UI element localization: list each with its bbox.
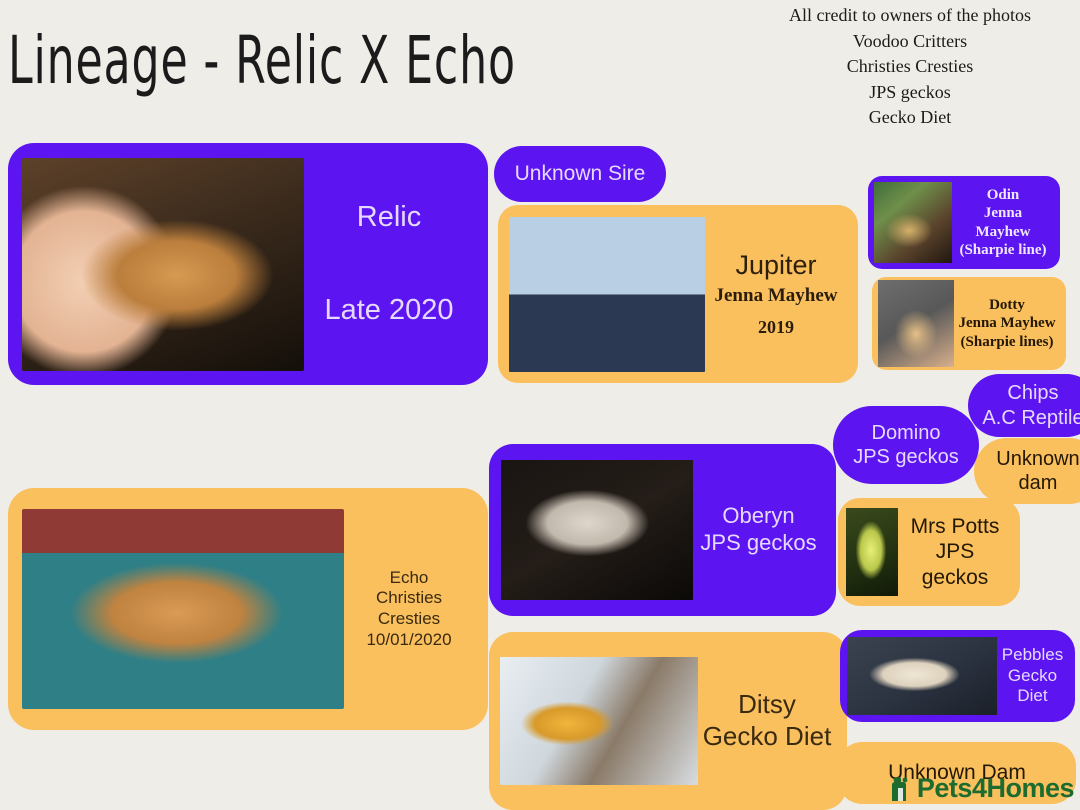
pebbles-photo xyxy=(847,637,997,715)
pets4homes-watermark: Pets4Homes xyxy=(888,773,1074,804)
pebbles-labels: Pebbles Gecko Diet xyxy=(997,645,1068,707)
card-relic[interactable]: Relic Late 2020 xyxy=(8,143,488,385)
jupiter-labels: Jupiter Jenna Mayhew 2019 xyxy=(705,249,847,339)
domino-name: Domino xyxy=(837,421,975,445)
unknown-sire-name: Unknown Sire xyxy=(494,161,666,187)
ditsy-labels: Ditsy Gecko Diet xyxy=(698,689,836,752)
credit-line: Gecko Diet xyxy=(750,105,1070,131)
card-pebbles[interactable]: Pebbles Gecko Diet xyxy=(840,630,1075,722)
relic-name: Relic xyxy=(308,200,470,235)
pebbles-name: Pebbles xyxy=(1001,645,1064,666)
card-jupiter[interactable]: Jupiter Jenna Mayhew 2019 xyxy=(498,205,858,383)
mrs-potts-owner: JPS geckos xyxy=(902,539,1008,590)
ditsy-owner: Gecko Diet xyxy=(702,721,832,753)
card-dotty[interactable]: Dotty Jenna Mayhew (Sharpie lines) xyxy=(872,277,1066,370)
card-oberyn[interactable]: Oberyn JPS geckos xyxy=(489,444,836,616)
card-unknown-dam-top[interactable]: Unknown dam xyxy=(974,438,1080,504)
jupiter-owner: Jenna Mayhew xyxy=(709,284,843,307)
odin-note: (Sharpie line) xyxy=(956,241,1050,259)
relic-labels: Relic Late 2020 xyxy=(304,200,474,329)
relic-photo xyxy=(22,158,304,371)
card-unknown-sire[interactable]: Unknown Sire xyxy=(494,146,666,202)
chips-labels: Chips A.C Reptile xyxy=(968,381,1080,430)
odin-photo xyxy=(874,182,952,263)
echo-name: Echo xyxy=(348,568,470,589)
oberyn-labels: Oberyn JPS geckos xyxy=(693,503,824,557)
chips-name: Chips xyxy=(972,381,1080,405)
domino-labels: Domino JPS geckos xyxy=(833,421,979,470)
page-title: Lineage - Relic X Echo xyxy=(8,22,516,99)
mrs-potts-photo xyxy=(846,508,898,596)
jupiter-year: 2019 xyxy=(709,317,843,339)
dotty-note: (Sharpie lines) xyxy=(958,333,1056,351)
credit-line: Christies Cresties xyxy=(750,54,1070,80)
unknown-dam-top-name2: dam xyxy=(978,471,1080,495)
echo-labels: Echo Christies Cresties 10/01/2020 xyxy=(344,568,474,651)
pets4homes-logo-icon xyxy=(888,775,914,803)
card-chips[interactable]: Chips A.C Reptile xyxy=(968,374,1080,437)
domino-owner: JPS geckos xyxy=(837,445,975,469)
ditsy-name: Ditsy xyxy=(702,689,832,721)
mrs-potts-labels: Mrs Potts JPS geckos xyxy=(898,514,1012,591)
odin-owner: Jenna Mayhew xyxy=(956,204,1050,241)
credits-heading: All credit to owners of the photos xyxy=(750,3,1070,29)
card-ditsy[interactable]: Ditsy Gecko Diet xyxy=(489,632,847,810)
lineage-chart-canvas: Lineage - Relic X Echo All credit to own… xyxy=(0,0,1080,810)
odin-labels: Odin Jenna Mayhew (Sharpie line) xyxy=(952,186,1054,259)
dotty-name: Dotty xyxy=(958,296,1056,314)
pets4homes-wordmark: Pets4Homes xyxy=(917,773,1074,804)
echo-photo xyxy=(22,509,344,709)
chips-owner: A.C Reptile xyxy=(972,406,1080,430)
oberyn-owner: JPS geckos xyxy=(697,530,820,557)
photo-credits: All credit to owners of the photos Voodo… xyxy=(750,3,1070,131)
ditsy-photo xyxy=(500,657,698,785)
card-domino[interactable]: Domino JPS geckos xyxy=(833,406,979,484)
dotty-owner: Jenna Mayhew xyxy=(958,314,1056,332)
jupiter-photo xyxy=(509,217,705,372)
dotty-labels: Dotty Jenna Mayhew (Sharpie lines) xyxy=(954,296,1060,351)
card-echo[interactable]: Echo Christies Cresties 10/01/2020 xyxy=(8,488,488,730)
relic-date: Late 2020 xyxy=(308,293,470,328)
mrs-potts-name: Mrs Potts xyxy=(902,514,1008,540)
echo-owner: Christies Cresties xyxy=(348,588,470,629)
odin-name: Odin xyxy=(956,186,1050,204)
unknown-dam-top-name: Unknown xyxy=(978,447,1080,471)
jupiter-name: Jupiter xyxy=(709,249,843,282)
oberyn-name: Oberyn xyxy=(697,503,820,530)
card-odin[interactable]: Odin Jenna Mayhew (Sharpie line) xyxy=(868,176,1060,269)
oberyn-photo xyxy=(501,460,693,600)
card-mrs-potts[interactable]: Mrs Potts JPS geckos xyxy=(838,498,1020,606)
echo-date: 10/01/2020 xyxy=(348,630,470,651)
pebbles-owner: Gecko Diet xyxy=(1001,666,1064,707)
dotty-photo xyxy=(878,280,954,367)
credit-line: Voodoo Critters xyxy=(750,29,1070,55)
credit-line: JPS geckos xyxy=(750,80,1070,106)
unknown-dam-top-labels: Unknown dam xyxy=(974,447,1080,496)
